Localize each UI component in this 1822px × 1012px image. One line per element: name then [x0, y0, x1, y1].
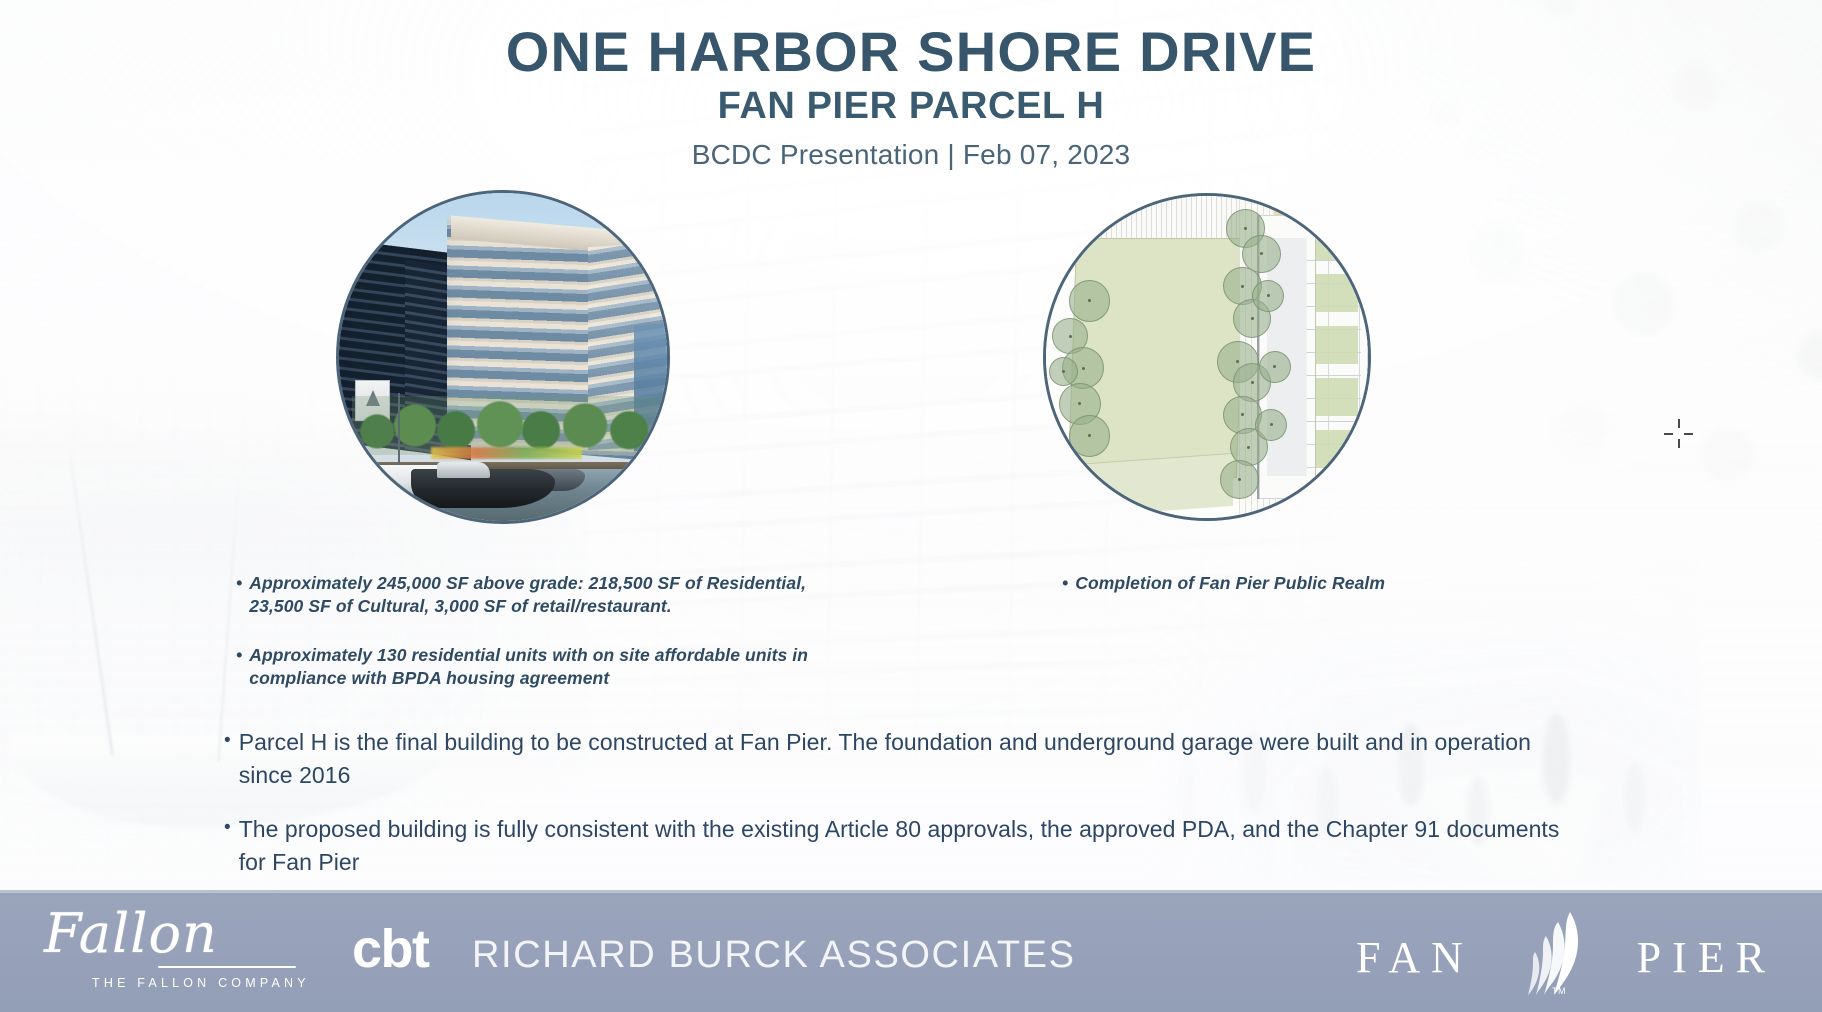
bullet-dot-icon: • — [224, 726, 231, 791]
bullet-dot-icon: • — [236, 572, 242, 618]
crosshair-arm-top — [1678, 419, 1680, 428]
rendering-public-art-band — [431, 447, 582, 458]
fallon-swash-flourish — [158, 966, 296, 968]
program-bullets-left: • Approximately 245,000 SF above grade: … — [236, 572, 856, 716]
presentation-slide: ONE HARBOR SHORE DRIVE FAN PIER PARCEL H… — [0, 0, 1822, 1012]
site-plan-south-lawn — [1059, 453, 1233, 518]
crosshair-arm-left — [1664, 433, 1673, 435]
bullet-dot-icon: • — [236, 644, 242, 690]
building-rendering-circle-image — [336, 190, 670, 524]
site-plan-tree-canopy — [1255, 409, 1287, 441]
site-plan-tree-canopy — [1220, 460, 1259, 499]
fan-pier-sail-mark-icon — [1518, 910, 1596, 996]
rendering-yacht-cabin — [437, 462, 489, 478]
fallon-company-logo: Fallon THE FALLON COMPANY — [40, 906, 300, 996]
fan-pier-word-pier: PIER — [1637, 932, 1776, 983]
crosshair-cursor-icon — [1678, 433, 1679, 434]
site-plan-planter-beds — [1315, 222, 1358, 492]
list-item: • Completion of Fan Pier Public Realm — [1062, 572, 1482, 595]
list-item: • Approximately 130 residential units wi… — [236, 644, 856, 690]
fan-pier-word-fan: FAN — [1356, 932, 1474, 983]
slide-title: ONE HARBOR SHORE DRIVE — [0, 22, 1822, 81]
site-plan-tree-canopy — [1069, 280, 1111, 322]
site-plan-tree-canopy — [1049, 357, 1078, 386]
site-plan-tree-canopy — [1252, 280, 1284, 312]
program-bullets-right: • Completion of Fan Pier Public Realm — [1062, 572, 1482, 621]
fallon-tagline: THE FALLON COMPANY — [92, 976, 310, 990]
rendering-sailboat-mast — [398, 393, 400, 465]
richard-burck-associates-logo: RICHARD BURCK ASSOCIATES — [472, 934, 1076, 977]
crosshair-arm-right — [1684, 433, 1693, 435]
list-item-text: Approximately 245,000 SF above grade: 21… — [249, 572, 856, 618]
site-plan-circle-image — [1043, 193, 1371, 521]
bullet-dot-icon: • — [1062, 572, 1068, 595]
slide-subtitle: FAN PIER PARCEL H — [0, 87, 1822, 127]
list-item-text: Parcel H is the final building to be con… — [239, 726, 1574, 791]
list-item-text: Approximately 130 residential units with… — [249, 644, 856, 690]
list-item: • Approximately 245,000 SF above grade: … — [236, 572, 856, 618]
summary-bullets: • Parcel H is the final building to be c… — [224, 726, 1574, 901]
list-item-text: Completion of Fan Pier Public Realm — [1075, 572, 1482, 595]
fan-pier-trademark-symbol: TM — [1552, 986, 1566, 996]
fan-pier-logo: FAN TM PIER — [1356, 908, 1776, 998]
crosshair-arm-bottom — [1678, 439, 1680, 448]
building-rendering-artwork — [339, 193, 667, 521]
site-plan-tree-canopy — [1259, 351, 1291, 383]
cbt-logo: cbt — [352, 922, 429, 976]
title-block: ONE HARBOR SHORE DRIVE FAN PIER PARCEL H… — [0, 22, 1822, 171]
bullet-dot-icon: • — [224, 813, 231, 878]
slide-meta-line: BCDC Presentation | Feb 07, 2023 — [0, 139, 1822, 171]
footer-top-divider — [0, 890, 1822, 893]
footer-logo-bar: Fallon THE FALLON COMPANY cbt RICHARD BU… — [0, 890, 1822, 1012]
list-item: • The proposed building is fully consist… — [224, 813, 1574, 878]
fallon-script-wordmark: Fallon — [44, 902, 218, 965]
rendering-pedestrian — [627, 469, 634, 491]
site-plan-artwork — [1046, 196, 1368, 518]
list-item: • Parcel H is the final building to be c… — [224, 726, 1574, 791]
list-item-text: The proposed building is fully consisten… — [239, 813, 1574, 878]
site-plan-tree-canopy — [1069, 415, 1111, 457]
